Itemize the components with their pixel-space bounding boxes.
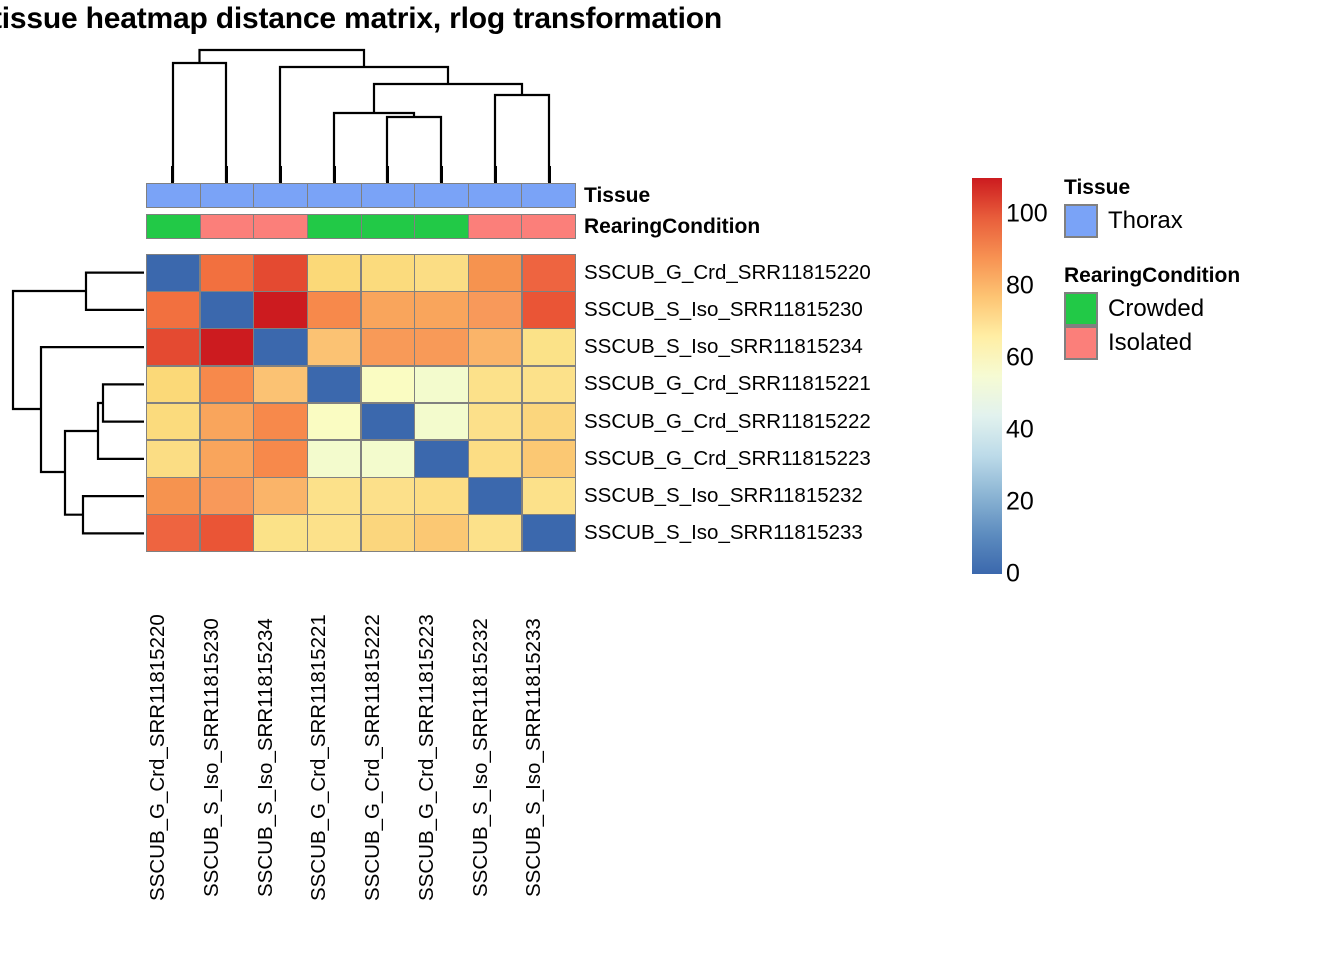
- column-label: SSCUB_S_Iso_SRR11815232: [469, 560, 523, 955]
- heatmap-cell: [201, 329, 253, 365]
- heatmap-cell: [308, 441, 360, 477]
- annotation-cell: [469, 184, 522, 207]
- heatmap-cell: [147, 329, 199, 365]
- heatmap-cell: [469, 441, 521, 477]
- heatmap-cell: [469, 255, 521, 291]
- heatmap-cell: [469, 292, 521, 328]
- column-label: SSCUB_S_Iso_SRR11815234: [254, 560, 308, 955]
- heatmap-cell: [415, 404, 467, 440]
- heatmap-cell: [147, 515, 199, 551]
- column-leaf-tick: [254, 166, 308, 183]
- column-label: SSCUB_G_Crd_SRR11815220: [146, 560, 200, 955]
- heatmap-cell: [254, 367, 306, 403]
- row-label: SSCUB_G_Crd_SRR11815221: [584, 366, 984, 403]
- heatmap-cell: [254, 292, 306, 328]
- annotation-cell: [469, 215, 522, 238]
- column-leaf-tick: [146, 166, 200, 183]
- heatmap-cell: [147, 404, 199, 440]
- column-label: SSCUB_S_Iso_SRR11815230: [200, 560, 254, 955]
- heatmap-cell: [362, 441, 414, 477]
- heatmap-cell: [147, 441, 199, 477]
- annotation-cell: [522, 215, 575, 238]
- heatmap-cell: [201, 255, 253, 291]
- legend-item-label: Crowded: [1108, 295, 1204, 323]
- column-labels: SSCUB_G_Crd_SRR11815220SSCUB_S_Iso_SRR11…: [146, 560, 576, 955]
- colorbar-tick-label: 80: [1006, 272, 1034, 301]
- legend-title-rearing-condition: RearingCondition: [1064, 264, 1334, 288]
- heatmap-cell: [415, 441, 467, 477]
- colorbar-tick-label: 20: [1006, 488, 1034, 517]
- heatmap-cell: [254, 255, 306, 291]
- legend-title-tissue: Tissue: [1064, 176, 1334, 200]
- annotation-cell: [522, 184, 575, 207]
- colorbar-tick-label: 0: [1006, 560, 1020, 589]
- heatmap-cell: [254, 478, 306, 514]
- colorbar: [972, 178, 1002, 574]
- legend-group-rearing-condition: CrowdedIsolated: [1064, 292, 1334, 360]
- column-label: SSCUB_S_Iso_SRR11815233: [522, 560, 576, 955]
- heatmap-cell: [201, 441, 253, 477]
- heatmap-cell: [523, 292, 575, 328]
- heatmap-cell: [147, 292, 199, 328]
- heatmap-cell: [523, 478, 575, 514]
- column-leaf-tick: [307, 166, 361, 183]
- column-leaf-tick: [469, 166, 523, 183]
- heatmap-cell: [362, 515, 414, 551]
- row-label: SSCUB_S_Iso_SRR11815233: [584, 515, 984, 552]
- row-labels: SSCUB_G_Crd_SRR11815220SSCUB_S_Iso_SRR11…: [584, 254, 984, 552]
- legend-item[interactable]: Isolated: [1064, 326, 1334, 360]
- row-label: SSCUB_S_Iso_SRR11815230: [584, 291, 984, 328]
- heatmap-cell: [523, 515, 575, 551]
- heatmap-cell: [201, 478, 253, 514]
- row-label: SSCUB_S_Iso_SRR11815232: [584, 478, 984, 515]
- heatmap-cell: [201, 292, 253, 328]
- heatmap-cell: [254, 329, 306, 365]
- row-label: SSCUB_G_Crd_SRR11815222: [584, 403, 984, 440]
- heatmap-cell: [308, 367, 360, 403]
- column-leaf-tick: [200, 166, 254, 183]
- heatmap-cell: [201, 404, 253, 440]
- heatmap-cell: [362, 255, 414, 291]
- heatmap-cell: [469, 329, 521, 365]
- heatmap-cell: [469, 404, 521, 440]
- annotation-cell: [201, 184, 254, 207]
- legend-item-label: Thorax: [1108, 207, 1183, 235]
- heatmap-cell: [415, 292, 467, 328]
- annotation-cell: [254, 184, 307, 207]
- column-leaf-ticks: [146, 166, 576, 183]
- heatmap-cell: [147, 367, 199, 403]
- heatmap-cell: [308, 255, 360, 291]
- row-label: SSCUB_G_Crd_SRR11815223: [584, 440, 984, 477]
- heatmap-cell: [362, 367, 414, 403]
- heatmap-cell: [308, 404, 360, 440]
- colorbar-tick-labels: 100806040200: [1006, 178, 1066, 574]
- legend-item[interactable]: Thorax: [1064, 204, 1334, 238]
- row-dendrogram: [6, 254, 144, 552]
- annotation-cell: [415, 215, 468, 238]
- legend-swatch: [1064, 292, 1098, 326]
- heatmap-cell: [201, 515, 253, 551]
- heatmap-cell: [308, 292, 360, 328]
- heatmap-cell: [415, 478, 467, 514]
- annotation-cell: [147, 184, 200, 207]
- column-label: SSCUB_G_Crd_SRR11815221: [307, 560, 361, 955]
- colorbar-tick-label: 40: [1006, 416, 1034, 445]
- heatmap-cell: [415, 255, 467, 291]
- annotation-bar-rearing-condition: [146, 214, 576, 239]
- heatmap-cell: [415, 367, 467, 403]
- heatmap-cell: [469, 515, 521, 551]
- heatmap-cell: [362, 404, 414, 440]
- column-leaf-tick: [415, 166, 469, 183]
- colorbar-tick-label: 60: [1006, 344, 1034, 373]
- heatmap-cell: [469, 367, 521, 403]
- heatmap-cell: [469, 478, 521, 514]
- annotation-cell: [362, 215, 415, 238]
- page-title: tissue heatmap distance matrix, rlog tra…: [0, 2, 722, 36]
- heatmap-cell: [308, 515, 360, 551]
- heatmap-matrix: [146, 254, 576, 552]
- heatmap-cell: [523, 329, 575, 365]
- annotation-cell: [201, 215, 254, 238]
- column-dendrogram: [146, 47, 576, 182]
- row-label: SSCUB_G_Crd_SRR11815220: [584, 254, 984, 291]
- legend-item-label: Isolated: [1108, 329, 1192, 357]
- heatmap-cell: [415, 515, 467, 551]
- annotation-bar-tissue: [146, 183, 576, 208]
- heatmap-cell: [254, 441, 306, 477]
- heatmap-cell: [254, 515, 306, 551]
- column-label: SSCUB_G_Crd_SRR11815223: [415, 560, 469, 955]
- legend-item[interactable]: Crowded: [1064, 292, 1334, 326]
- heatmap-cell: [308, 478, 360, 514]
- heatmap-cell: [415, 329, 467, 365]
- heatmap-cell: [362, 478, 414, 514]
- heatmap-cell: [523, 441, 575, 477]
- heatmap-cell: [523, 367, 575, 403]
- annotation-label-tissue: Tissue: [584, 184, 650, 208]
- heatmap-cell: [523, 404, 575, 440]
- legend-swatch: [1064, 326, 1098, 360]
- heatmap-cell: [362, 329, 414, 365]
- annotation-cell: [254, 215, 307, 238]
- heatmap-cell: [201, 367, 253, 403]
- legend-group-tissue: Thorax: [1064, 204, 1334, 238]
- legend-panel: Tissue Thorax RearingCondition CrowdedIs…: [1064, 176, 1334, 360]
- annotation-cell: [308, 184, 361, 207]
- heatmap-cell: [308, 329, 360, 365]
- column-leaf-tick: [361, 166, 415, 183]
- heatmap-cell: [147, 478, 199, 514]
- heatmap-cell: [362, 292, 414, 328]
- annotation-cell: [362, 184, 415, 207]
- annotation-cell: [308, 215, 361, 238]
- colorbar-tick-label: 100: [1006, 200, 1048, 229]
- annotation-label-rearing-condition: RearingCondition: [584, 215, 760, 239]
- heatmap-cell: [523, 255, 575, 291]
- row-label: SSCUB_S_Iso_SRR11815234: [584, 329, 984, 366]
- heatmap-cell: [254, 404, 306, 440]
- legend-swatch: [1064, 204, 1098, 238]
- annotation-cell: [147, 215, 200, 238]
- heatmap-cell: [147, 255, 199, 291]
- column-label: SSCUB_G_Crd_SRR11815222: [361, 560, 415, 955]
- annotation-cell: [415, 184, 468, 207]
- column-leaf-tick: [522, 166, 576, 183]
